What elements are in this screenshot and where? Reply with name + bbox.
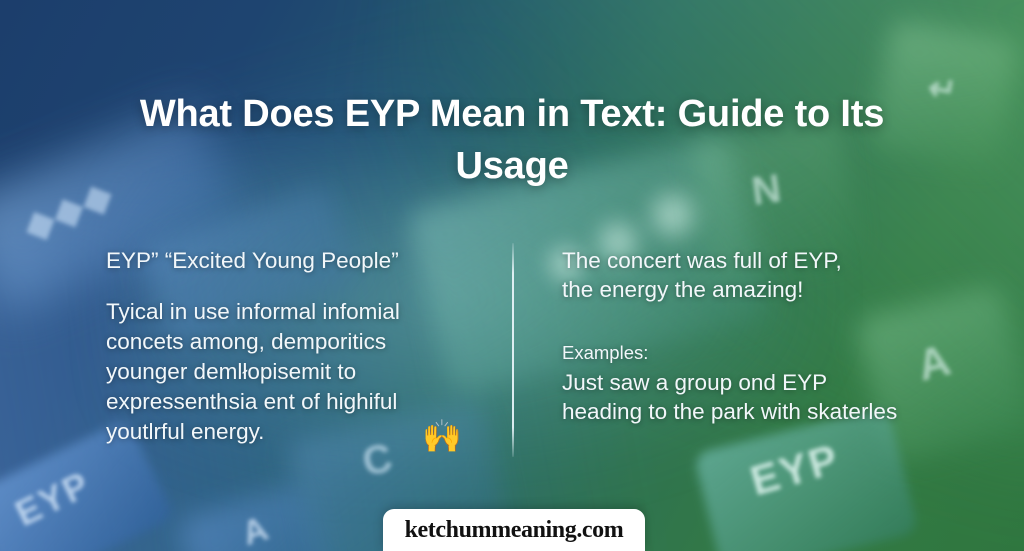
page-title: What Does EYP Mean in Text: Guide to Its… — [0, 88, 1024, 193]
right-column: The concert was full of EYP, the energy … — [562, 246, 982, 427]
poster-content: What Does EYP Mean in Text: Guide to Its… — [0, 0, 1024, 551]
column-divider — [512, 243, 514, 457]
footer-site-badge[interactable]: ketchummeaning.com — [383, 509, 645, 551]
raising-hands-emoji: 🙌 — [422, 420, 462, 452]
examples-label: Examples: — [562, 341, 982, 365]
right-column-lead: The concert was full of EYP, the energy … — [562, 246, 982, 305]
left-column: EYP” “Excited Young People” Tyical in us… — [106, 246, 488, 447]
poster-canvas: ◆◆◆ ↵ N A EYP EYP A C What Does EYP Mean… — [0, 0, 1024, 551]
footer-site-label: ketchummeaning.com — [405, 517, 624, 544]
left-column-lead: EYP” “Excited Young People” — [106, 246, 488, 275]
examples-text: Just saw a group ond EYP heading to the … — [562, 368, 982, 428]
